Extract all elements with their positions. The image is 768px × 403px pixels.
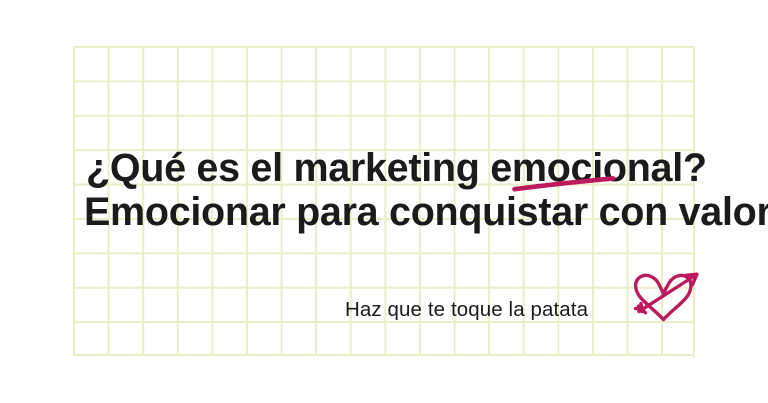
page-title: ¿Qué es el marketing emocional? Emociona… (86, 146, 756, 234)
headline-line-1: ¿Qué es el marketing emocional? (86, 146, 756, 190)
tagline-row: Haz que te toque la patata (345, 296, 588, 324)
tagline-text: Haz que te toque la patata (345, 296, 588, 324)
grid-bottom-edge (73, 354, 695, 356)
headline-line-2: Emocionar para conquistar con valor (84, 190, 756, 234)
poster-canvas: ¿Qué es el marketing emocional? Emociona… (0, 0, 768, 403)
